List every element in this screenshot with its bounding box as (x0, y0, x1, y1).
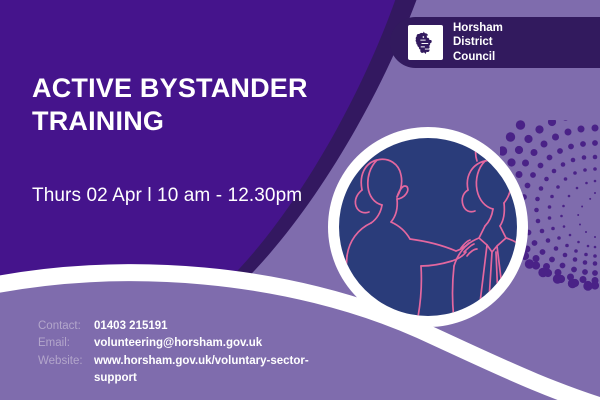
page-title: ACTIVE BYSTANDER TRAINING (32, 72, 362, 138)
title-block: ACTIVE BYSTANDER TRAINING (32, 72, 362, 138)
event-datetime: Thurs 02 Apr l 10 am - 12.30pm (32, 185, 302, 207)
heraldic-lion-icon (408, 25, 443, 60)
contact-row-website: Website: www.horsham.gov.uk/voluntary-se… (38, 353, 324, 388)
contact-value-email[interactable]: volunteering@horsham.gov.uk (94, 335, 262, 352)
contact-label-phone: Contact: (38, 318, 94, 335)
poster-canvas: Horsham District Council ACTIVE BYSTANDE… (0, 0, 600, 400)
contact-label-website: Website: (38, 353, 94, 388)
contact-row-phone: Contact: 01403 215191 (38, 318, 324, 335)
contact-block: Contact: 01403 215191 Email: volunteerin… (38, 318, 324, 388)
contact-label-email: Email: (38, 335, 94, 352)
logo-text: Horsham District Council (453, 21, 503, 64)
contact-row-email: Email: volunteering@horsham.gov.uk (38, 335, 324, 352)
contact-value-phone: 01403 215191 (94, 318, 168, 335)
contact-value-website[interactable]: www.horsham.gov.uk/voluntary-sector-supp… (94, 353, 324, 388)
horsham-district-council-logo: Horsham District Council (390, 17, 600, 68)
